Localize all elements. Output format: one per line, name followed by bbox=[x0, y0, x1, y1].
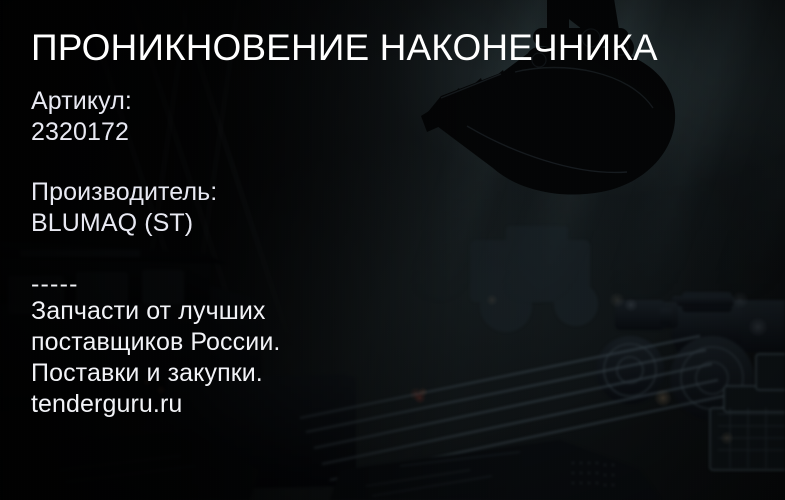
divider-dashes: ----- bbox=[31, 272, 280, 296]
product-banner: ПРОНИКНОВЕНИЕ НАКОНЕЧНИКА Артикул: 23201… bbox=[0, 0, 785, 500]
product-title: ПРОНИКНОВЕНИЕ НАКОНЕЧНИКА bbox=[31, 28, 658, 68]
tagline-line-2: поставщиков России. bbox=[31, 327, 280, 358]
site-url: tenderguru.ru bbox=[31, 389, 280, 420]
banner-content: ПРОНИКНОВЕНИЕ НАКОНЕЧНИКА Артикул: 23201… bbox=[31, 0, 671, 500]
article-field: Артикул: 2320172 bbox=[31, 86, 132, 148]
tagline-line-1: Запчасти от лучших bbox=[31, 296, 280, 327]
manufacturer-label: Производитель: bbox=[31, 177, 217, 208]
manufacturer-field: Производитель: BLUMAQ (ST) bbox=[31, 177, 217, 239]
tagline-line-3: Поставки и закупки. bbox=[31, 358, 280, 389]
manufacturer-value: BLUMAQ (ST) bbox=[31, 208, 217, 239]
article-label: Артикул: bbox=[31, 86, 132, 117]
article-value: 2320172 bbox=[31, 117, 132, 148]
tagline-block: ----- Запчасти от лучших поставщиков Рос… bbox=[31, 272, 280, 420]
